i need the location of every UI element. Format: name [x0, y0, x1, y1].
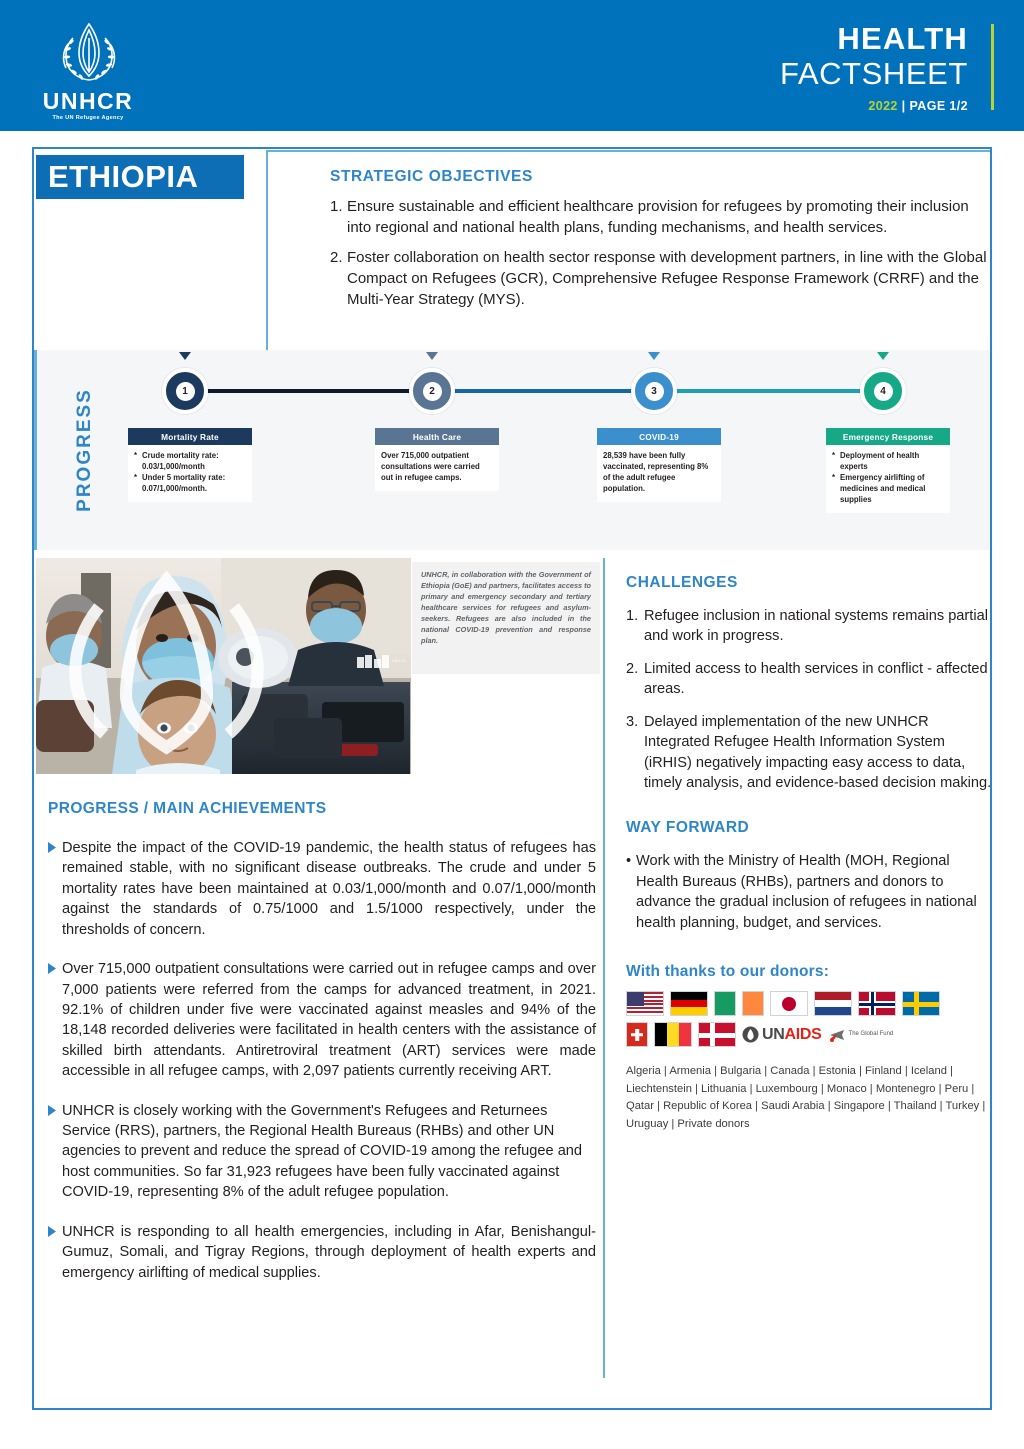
flag-united-states [626, 991, 664, 1016]
challenge-number: 2. [626, 659, 644, 700]
progress-section-label: PROGRESS [72, 355, 98, 545]
timeline-chip-emergency-response: Emergency Response [826, 428, 950, 445]
timeline-node-3: 3 [631, 368, 677, 414]
timeline-bullet: Crude mortality rate: 0.03/1,000/month [134, 450, 246, 472]
timeline-chip-label: Health Care [413, 432, 461, 442]
timeline-chip-covid-19: COVID-19 [597, 428, 721, 445]
country-name: ETHIOPIA [48, 159, 198, 195]
feature-photo: UNHCR [36, 558, 411, 774]
timeline-caret-2 [426, 352, 438, 360]
arrow-bullet-icon [48, 838, 62, 940]
flag-japan [770, 991, 808, 1016]
timeline-chip-label: Emergency Response [843, 432, 933, 442]
logo-unaids: UNAIDS [742, 1026, 822, 1044]
progress-timeline-band: 1 Mortality Rate Crude mortality rate: 0… [34, 350, 990, 550]
logo-global-fund: The Global Fund [828, 1026, 894, 1043]
timeline-chip-label: COVID-19 [639, 432, 679, 442]
timeline-chip-health-care: Health Care [375, 428, 499, 445]
timeline-node-number: 3 [645, 382, 664, 401]
strategic-objectives-section: STRATEGIC OBJECTIVES 1. Ensure sustainab… [330, 168, 990, 319]
donors-section: With thanks to our donors: [626, 963, 992, 1134]
donor-flags-row-1 [626, 991, 992, 1016]
watermark-label: UNHCR [392, 659, 406, 663]
page-title-health: HEALTH [780, 22, 968, 57]
page-title-factsheet: FACTSHEET [780, 57, 968, 92]
photo-watermark: UNHCR [36, 558, 406, 769]
challenge-item: 3. Delayed implementation of the new UNH… [626, 712, 992, 794]
challenges-title: CHALLENGES [626, 574, 992, 592]
right-column: CHALLENGES 1. Refugee inclusion in natio… [626, 574, 992, 1134]
challenge-number: 1. [626, 606, 644, 647]
way-forward-item: • Work with the Ministry of Health (MOH,… [626, 851, 992, 933]
timeline-box-emergency-response: Deployment of health experts Emergency a… [826, 445, 950, 513]
flag-ireland-green [714, 991, 736, 1016]
timeline-chip-mortality-rate: Mortality Rate [128, 428, 252, 445]
strategic-objective-text: Foster collaboration on health sector re… [347, 247, 990, 310]
strategic-objective-number: 2. [330, 247, 347, 310]
header-meta: 2022 | PAGE 1/2 [780, 99, 968, 113]
flag-denmark [698, 1022, 736, 1047]
challenge-item: 2. Limited access to health services in … [626, 659, 992, 700]
timeline-node-4: 4 [860, 368, 906, 414]
timeline-node-number: 2 [423, 382, 442, 401]
way-forward-text: Work with the Ministry of Health (MOH, R… [636, 851, 992, 933]
country-name-tab: ETHIOPIA [36, 155, 244, 199]
donors-title: With thanks to our donors: [626, 963, 992, 981]
progress-left-rule [34, 350, 37, 550]
arrow-bullet-icon [48, 1222, 62, 1283]
way-forward-title: WAY FORWARD [626, 819, 992, 837]
achievements-section: PROGRESS / MAIN ACHIEVEMENTS Despite the… [48, 800, 596, 1302]
flag-ireland-orange [742, 991, 764, 1016]
header-accent-line [991, 24, 994, 110]
timeline-caret-1 [179, 352, 191, 360]
flag-switzerland [626, 1022, 648, 1047]
flag-norway [858, 991, 896, 1016]
arrow-bullet-icon [48, 959, 62, 1082]
global-fund-wordmark: The Global Fund [849, 1031, 894, 1038]
column-divider [603, 558, 605, 1378]
challenge-item: 1. Refugee inclusion in national systems… [626, 606, 992, 647]
achievement-text: UNHCR is responding to all health emerge… [62, 1222, 596, 1283]
unhcr-logo: UNHCR The UN Refugee Agency [38, 18, 143, 118]
timeline-bullet: Deployment of health experts [832, 450, 944, 472]
achievement-item: UNHCR is responding to all health emerge… [48, 1222, 596, 1283]
global-fund-mark-icon [828, 1026, 846, 1043]
timeline-text: Over 715,000 outpatient consultations we… [381, 450, 493, 483]
achievement-text: Over 715,000 outpatient consultations we… [62, 959, 596, 1082]
timeline-box-mortality-rate: Crude mortality rate: 0.03/1,000/month U… [128, 445, 252, 502]
photo-caption: UNHCR, in collaboration with the Governm… [412, 562, 600, 674]
achievement-text: UNHCR is closely working with the Govern… [62, 1101, 596, 1203]
timeline-connector-1-2 [204, 389, 426, 393]
unaids-mark-icon [742, 1026, 759, 1043]
unhcr-watermark-icon [36, 558, 354, 769]
challenges-section: CHALLENGES 1. Refugee inclusion in natio… [626, 574, 992, 793]
flag-sweden [902, 991, 940, 1016]
top-rule [266, 150, 990, 152]
strategic-objective-item: 1. Ensure sustainable and efficient heal… [330, 196, 990, 238]
country-tab-divider [266, 150, 268, 350]
timeline-node-number: 1 [176, 382, 195, 401]
achievement-item: Despite the impact of the COVID-19 pande… [48, 838, 596, 940]
challenge-text: Refugee inclusion in national systems re… [644, 606, 992, 647]
unhcr-wordmark: UNHCR [38, 90, 138, 113]
challenge-text: Delayed implementation of the new UNHCR … [644, 712, 992, 794]
donor-flags-row-2: UNAIDS The Global Fund [626, 1022, 992, 1047]
timeline-caret-4 [877, 352, 889, 360]
timeline-box-health-care: Over 715,000 outpatient consultations we… [375, 445, 499, 491]
achievement-item: Over 715,000 outpatient consultations we… [48, 959, 596, 1082]
header-title-block: HEALTH FACTSHEET 2022 | PAGE 1/2 [780, 22, 968, 113]
flag-netherlands [814, 991, 852, 1016]
strategic-objective-number: 1. [330, 196, 347, 238]
unaids-un-text: UN [762, 1026, 785, 1043]
timeline-chip-label: Mortality Rate [161, 432, 219, 442]
achievement-item: UNHCR is closely working with the Govern… [48, 1101, 596, 1203]
header-page-number: PAGE 1/2 [909, 99, 968, 113]
timeline-box-covid-19: 28,539 have been fully vaccinated, repre… [597, 445, 721, 502]
timeline-connector-3-4 [648, 389, 870, 393]
bullet-dot-icon: • [626, 851, 636, 933]
strategic-objective-item: 2. Foster collaboration on health sector… [330, 247, 990, 310]
timeline-bullet: Emergency airlifting of medicines and me… [832, 472, 944, 505]
unhcr-emblem-icon [46, 18, 132, 86]
way-forward-section: WAY FORWARD • Work with the Ministry of … [626, 819, 992, 933]
header-year: 2022 [868, 99, 897, 113]
flag-germany [670, 991, 708, 1016]
timeline-node-1: 1 [162, 368, 208, 414]
timeline-node-2: 2 [409, 368, 455, 414]
challenge-number: 3. [626, 712, 644, 794]
flag-belgium [654, 1022, 692, 1047]
achievements-title: PROGRESS / MAIN ACHIEVEMENTS [48, 800, 596, 818]
timeline-caret-3 [648, 352, 660, 360]
watermark-bars [357, 655, 390, 668]
donor-country-list: Algeria | Armenia | Bulgaria | Canada | … [626, 1063, 986, 1134]
unhcr-tagline: The UN Refugee Agency [38, 115, 138, 121]
timeline-connector-2-3 [426, 389, 648, 393]
progress-timeline: 1 Mortality Rate Crude mortality rate: 0… [34, 350, 990, 550]
header-separator: | [898, 99, 910, 113]
arrow-bullet-icon [48, 1101, 62, 1203]
challenge-text: Limited access to health services in con… [644, 659, 992, 700]
achievement-text: Despite the impact of the COVID-19 pande… [62, 838, 596, 940]
strategic-objectives-title: STRATEGIC OBJECTIVES [330, 168, 990, 186]
timeline-node-number: 4 [874, 382, 893, 401]
unaids-wordmark: UNAIDS [762, 1026, 822, 1044]
timeline-text: 28,539 have been fully vaccinated, repre… [603, 450, 715, 494]
unaids-aids-text: AIDS [785, 1026, 822, 1043]
strategic-objective-text: Ensure sustainable and efficient healthc… [347, 196, 990, 238]
page-header: UNHCR The UN Refugee Agency HEALTH FACTS… [0, 0, 1024, 131]
timeline-bullet: Under 5 mortality rate: 0.07/1,000/month… [134, 472, 246, 494]
